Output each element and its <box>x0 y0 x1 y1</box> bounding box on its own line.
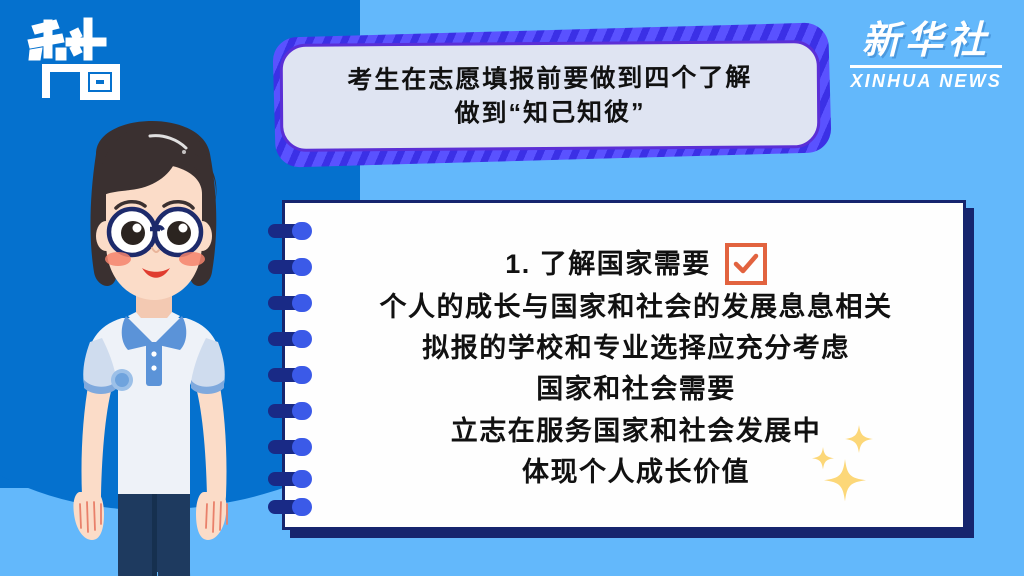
notebook-spiral-rings <box>268 200 328 530</box>
title-banner-box: 考生在志愿填报前要做到四个了解 做到“知己知彼” <box>280 40 821 152</box>
spiral-ring <box>268 260 316 274</box>
title-banner: 考生在志愿填报前要做到四个了解 做到“知己知彼” <box>268 18 838 168</box>
xinhua-news-logo: 新华社 XINHUA NEWS <box>850 22 1002 92</box>
spiral-ring <box>268 500 316 514</box>
checkbox-checked-icon[interactable] <box>725 243 767 285</box>
infographic-stage: 新华社 XINHUA NEWS 考生在志愿填报前要做到四个了解 做到“知己知彼”… <box>0 0 1024 576</box>
spiral-ring <box>268 404 316 418</box>
card-body-line-1: 个人的成长与国家和社会的发展息息相关 <box>380 288 893 326</box>
spiral-ring <box>268 368 316 382</box>
card-heading-row: 1. 了解国家需要 <box>505 243 767 285</box>
kehua-logo-icon <box>22 14 134 102</box>
student-illustration <box>44 96 264 576</box>
card-body-line-5: 体现个人成长价值 <box>522 453 750 491</box>
spiral-ring <box>268 440 316 454</box>
card-body-line-4: 立志在服务国家和社会发展中 <box>451 412 822 450</box>
card-body-line-3: 国家和社会需要 <box>536 370 736 408</box>
title-line-2: 做到“知己知彼” <box>454 95 645 131</box>
spiral-ring <box>268 472 316 486</box>
xinhua-logo-rule <box>850 65 1002 68</box>
spiral-ring <box>268 224 316 238</box>
spiral-ring <box>268 296 316 310</box>
spiral-ring <box>268 332 316 346</box>
content-card: 1. 了解国家需要 个人的成长与国家和社会的发展息息相关 拟报的学校和专业选择应… <box>282 200 966 530</box>
title-line-1: 考生在志愿填报前要做到四个了解 <box>347 60 752 97</box>
card-heading-text: 1. 了解国家需要 <box>505 245 711 283</box>
xinhua-logo-cn: 新华社 <box>850 22 1002 62</box>
card-body-line-2: 拟报的学校和专业选择应充分考虑 <box>422 329 850 367</box>
xinhua-logo-en: XINHUA NEWS <box>850 71 1002 92</box>
